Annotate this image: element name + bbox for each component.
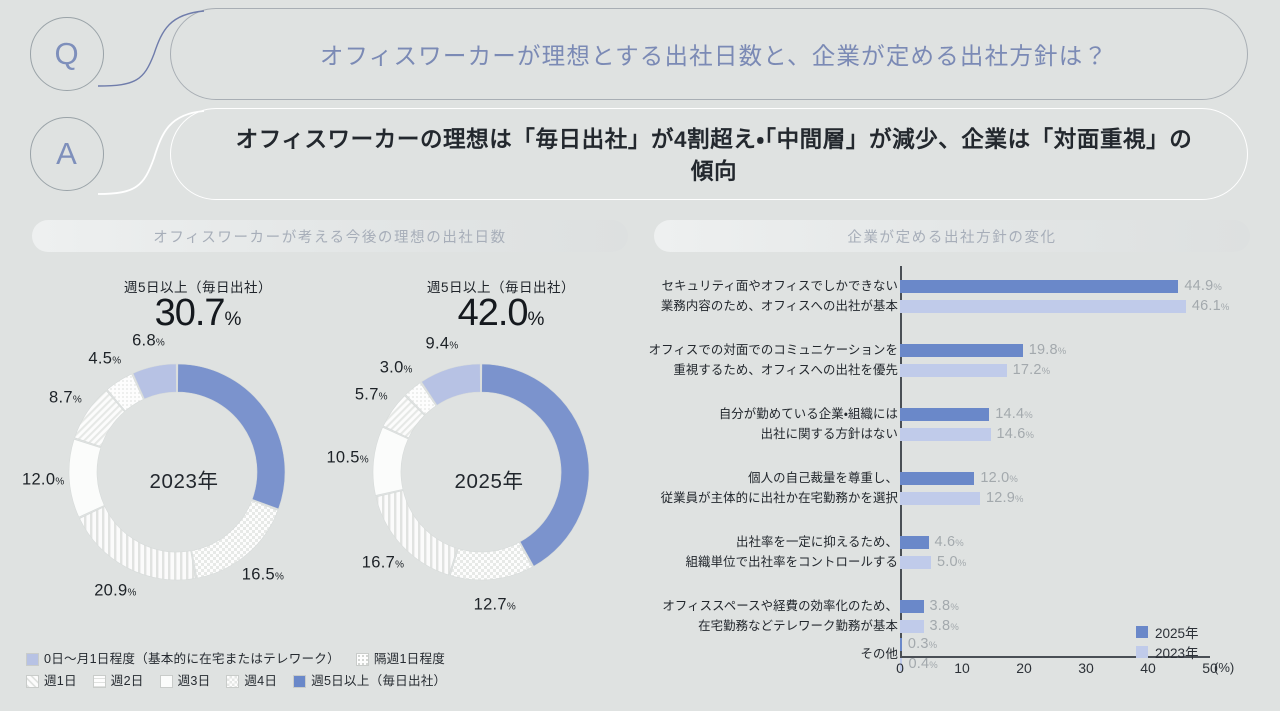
bar-row[interactable]: 3.8%	[900, 616, 1264, 636]
question-row: オフィスワーカーが理想とする出社日数と、企業が定める出社方針は？ Q	[0, 8, 1280, 100]
bar-chart-legend: 2025年2023年	[1136, 622, 1199, 662]
bar-rect-2025年	[900, 472, 974, 485]
bar-category-line: 出社率を一定に抑えるため、	[646, 532, 898, 552]
x-axis-tick: 10	[954, 660, 970, 676]
legend-swatch-checker	[226, 675, 239, 688]
bar-rows: 4.6%5.0%	[900, 532, 1264, 572]
bar-category-line: 自分が勤めている企業・組織には	[646, 404, 898, 424]
question-text: オフィスワーカーが理想とする出社日数と、企業が定める出社方針は？	[320, 37, 1108, 71]
bar-rows: 14.4%14.6%	[900, 404, 1264, 444]
donut-value-label: 8.7%	[49, 388, 82, 407]
donut-legend-row-2: 週1日週2日週3日週4日週5日以上（毎日出社）	[26, 670, 646, 692]
donut-legend-item: 隔週1日程度	[356, 648, 445, 670]
section-title-left: オフィスワーカーが考える今後の理想の出社日数	[32, 220, 628, 252]
donut-value-label: 6.8%	[132, 332, 165, 351]
legend-swatch-diagonal-hatch	[26, 675, 39, 688]
donut-chart-2025: 週5日以上（毎日出社） 42.0% 2025年 12.7%16.7%10.5%5…	[328, 272, 646, 644]
legend-swatch-solid-blue	[293, 675, 306, 688]
legend-label: 週3日	[178, 670, 211, 692]
bar-rect-2025年	[900, 536, 929, 549]
legend-label: 週4日	[244, 670, 277, 692]
bar-rows: 12.0%12.9%	[900, 468, 1264, 508]
donut-2023-svg	[18, 272, 336, 644]
donut-segment	[80, 506, 196, 580]
donut-legend-item: 週5日以上（毎日出社）	[293, 670, 446, 692]
bar-category-line: 在宅勤務などテレワーク勤務が基本	[646, 616, 898, 636]
bar-rect-2025年	[900, 638, 902, 651]
question-badge: Q	[30, 17, 104, 91]
bar-category-label: 出社率を一定に抑えるため、組織単位で出社率をコントロールする	[646, 532, 898, 572]
question-bubble: オフィスワーカーが理想とする出社日数と、企業が定める出社方針は？	[170, 8, 1248, 100]
bar-value-label: 14.6%	[997, 426, 1035, 442]
bar-value-label: 46.1%	[1192, 298, 1230, 314]
bar-category-line: その他	[646, 644, 898, 664]
bar-category-line: 重視するため、オフィスへの出社を優先	[646, 360, 898, 380]
answer-connector	[96, 108, 206, 200]
donut-legend-item: 週2日	[93, 670, 144, 692]
bar-category-line: セキュリティ面やオフィスでしかできない	[646, 276, 898, 296]
donut-segment	[450, 542, 532, 580]
donut-legend-row-1: 0日〜月1日程度（基本的に在宅またはテレワーク）隔週1日程度	[26, 648, 646, 670]
donut-legend-item: 週1日	[26, 670, 77, 692]
bar-category-label: その他	[646, 644, 898, 664]
x-axis-tick: 0	[896, 660, 904, 676]
section-title-right: 企業が定める出社方針の変化	[654, 220, 1250, 252]
donut-value-label: 16.5%	[242, 565, 285, 584]
bar-category-label: オフィススペースや経費の効率化のため、在宅勤務などテレワーク勤務が基本	[646, 596, 898, 636]
donut-value-label: 9.4%	[425, 334, 458, 353]
x-axis-tick: 40	[1140, 660, 1156, 676]
bar-category-line: 出社に関する方針はない	[646, 424, 898, 444]
donut-value-label: 20.9%	[94, 582, 137, 601]
bar-rect-2025年	[900, 600, 924, 613]
donut-legend-item: 週4日	[226, 670, 277, 692]
bar-category-label: 個人の自己裁量を尊重し、従業員が主体的に出社か在宅勤務かを選択	[646, 468, 898, 508]
donut-2025-svg	[328, 272, 646, 644]
bar-row[interactable]: 46.1%	[900, 296, 1264, 316]
bar-category-line: オフィススペースや経費の効率化のため、	[646, 596, 898, 616]
bar-legend-item: 2023年	[1136, 642, 1199, 662]
donut-legend-item: 0日〜月1日程度（基本的に在宅またはテレワーク）	[26, 648, 340, 670]
bar-legend-swatch	[1136, 646, 1148, 658]
x-axis-tick: 30	[1078, 660, 1094, 676]
bar-legend-swatch	[1136, 626, 1148, 638]
bar-category-line: 組織単位で出社率をコントロールする	[646, 552, 898, 572]
bar-value-label: 14.4%	[995, 406, 1033, 422]
donut-legend-item: 週3日	[160, 670, 211, 692]
infographic-page: オフィスワーカーが理想とする出社日数と、企業が定める出社方針は？ Q オフィスワ…	[0, 0, 1280, 711]
donut-value-label: 5.7%	[355, 385, 388, 404]
bar-rows: 44.9%46.1%	[900, 276, 1264, 316]
donut-2023-center: 2023年	[18, 464, 336, 494]
bar-rows: 19.8%17.2%	[900, 340, 1264, 380]
bar-category-line: 個人の自己裁量を尊重し、	[646, 468, 898, 488]
bar-row[interactable]: 14.4%	[900, 404, 1264, 424]
bar-row[interactable]: 12.0%	[900, 468, 1264, 488]
legend-swatch-solid-lavender	[26, 653, 39, 666]
bar-value-label: 3.8%	[930, 618, 959, 634]
donut-legend: 0日〜月1日程度（基本的に在宅またはテレワーク）隔週1日程度 週1日週2日週3日…	[26, 648, 646, 692]
bar-row[interactable]: 3.8%	[900, 596, 1264, 616]
bar-rect-2025年	[900, 280, 1178, 293]
bar-legend-label: 2023年	[1155, 642, 1199, 662]
legend-swatch-grid-fine	[93, 675, 106, 688]
bar-rect-2023年	[900, 428, 991, 441]
bar-row[interactable]: 0.3%	[900, 634, 1264, 654]
x-axis-tick: 20	[1016, 660, 1032, 676]
legend-label: 週1日	[44, 670, 77, 692]
bar-legend-item: 2025年	[1136, 622, 1199, 642]
answer-row: オフィスワーカーの理想は「毎日出社」が4割超え・「中間層」が減少、企業は「対面重…	[0, 108, 1280, 200]
legend-swatch-dots-fine	[356, 653, 369, 666]
answer-text: オフィスワーカーの理想は「毎日出社」が4割超え・「中間層」が減少、企業は「対面重…	[235, 122, 1193, 186]
bar-rect-2023年	[900, 620, 924, 633]
bar-rect-2023年	[900, 492, 980, 505]
legend-label: 隔週1日程度	[374, 648, 445, 670]
bar-row[interactable]: 5.0%	[900, 552, 1264, 572]
bar-category-line: 業務内容のため、オフィスへの出社が基本	[646, 296, 898, 316]
bar-category-label: オフィスでの対面でのコミュニケーションを重視するため、オフィスへの出社を優先	[646, 340, 898, 380]
bar-legend-label: 2025年	[1155, 622, 1199, 642]
bar-rect-2023年	[900, 364, 1007, 377]
answer-bubble: オフィスワーカーの理想は「毎日出社」が4割超え・「中間層」が減少、企業は「対面重…	[170, 108, 1248, 200]
donut-value-label: 12.0%	[22, 471, 65, 490]
donut-value-label: 3.0%	[380, 359, 413, 378]
bar-row[interactable]: 44.9%	[900, 276, 1264, 296]
donut-chart-2023: 週5日以上（毎日出社） 30.7% 2023年 16.5%20.9%12.0%8…	[18, 272, 336, 644]
bar-value-label: 4.6%	[935, 534, 964, 550]
bar-row[interactable]: 4.6%	[900, 532, 1264, 552]
bar-value-label: 3.8%	[930, 598, 959, 614]
bar-rect-2023年	[900, 556, 931, 569]
bar-row[interactable]: 19.8%	[900, 340, 1264, 360]
donut-value-label: 12.7%	[474, 596, 517, 615]
legend-label: 0日〜月1日程度（基本的に在宅またはテレワーク）	[44, 648, 340, 670]
bar-rect-2023年	[900, 300, 1186, 313]
donut-2025-center: 2025年	[328, 464, 646, 494]
legend-label: 週5日以上（毎日出社）	[311, 670, 446, 692]
question-connector	[96, 8, 206, 100]
bar-row[interactable]: 17.2%	[900, 360, 1264, 380]
bar-category-label: 自分が勤めている企業・組織には出社に関する方針はない	[646, 404, 898, 444]
bar-category-label: セキュリティ面やオフィスでしかできない業務内容のため、オフィスへの出社が基本	[646, 276, 898, 316]
answer-badge: A	[30, 117, 104, 191]
bar-value-label: 5.0%	[937, 554, 966, 570]
bar-value-label: 12.9%	[986, 490, 1024, 506]
bar-category-line: オフィスでの対面でのコミュニケーションを	[646, 340, 898, 360]
donut-value-label: 16.7%	[362, 554, 405, 573]
legend-label: 週2日	[111, 670, 144, 692]
bar-chart: セキュリティ面やオフィスでしかできない業務内容のため、オフィスへの出社が基本44…	[646, 262, 1264, 702]
bar-rect-2025年	[900, 344, 1023, 357]
bar-value-label: 12.0%	[980, 470, 1018, 486]
bar-rect-2025年	[900, 408, 989, 421]
legend-swatch-solid-white	[160, 675, 173, 688]
donut-value-label: 4.5%	[88, 350, 121, 369]
bar-row[interactable]: 12.9%	[900, 488, 1264, 508]
bar-category-line: 従業員が主体的に出社か在宅勤務かを選択	[646, 488, 898, 508]
donut-value-label: 10.5%	[326, 449, 369, 468]
x-axis-unit-label: (%)	[1214, 660, 1234, 675]
bar-value-label: 17.2%	[1013, 362, 1051, 378]
bar-row[interactable]: 14.6%	[900, 424, 1264, 444]
bar-value-label: 0.3%	[908, 636, 937, 652]
bar-value-label: 19.8%	[1029, 342, 1067, 358]
bar-value-label: 0.4%	[908, 656, 937, 672]
bar-rows: 3.8%3.8%	[900, 596, 1264, 636]
bar-value-label: 44.9%	[1184, 278, 1222, 294]
